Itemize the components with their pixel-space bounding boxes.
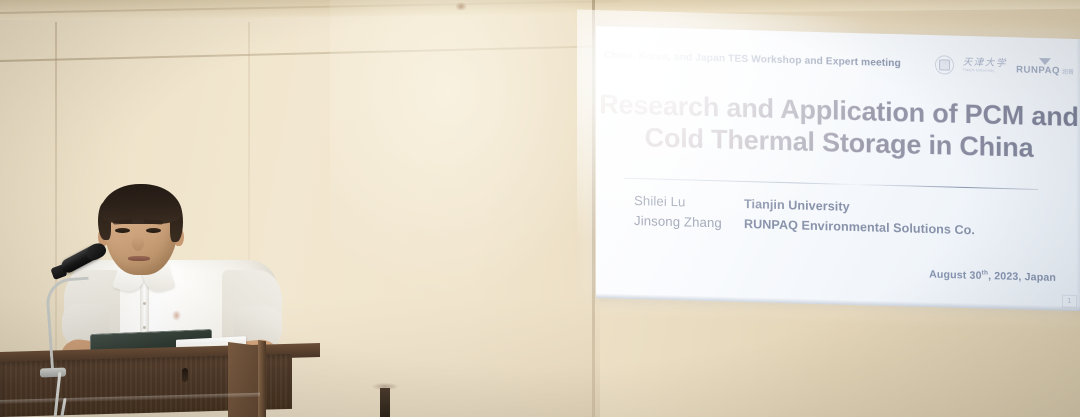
runpaq-name-label: RUNPAQ bbox=[1016, 66, 1060, 77]
author-name: Shilei Lu bbox=[634, 193, 744, 211]
presenter-hair bbox=[100, 184, 182, 224]
presentation-slide: China, Korea, and Japan TES Workshop and… bbox=[596, 26, 1080, 311]
date-suffix: , 2023, Japan bbox=[988, 271, 1056, 285]
shirt-button bbox=[143, 326, 146, 329]
microphone-base bbox=[40, 368, 66, 378]
author-list: Shilei Lu Tianjin University Jinsong Zha… bbox=[634, 193, 975, 242]
workshop-name-label: China, Korea, and Japan TES Workshop and… bbox=[604, 50, 901, 69]
slide-divider-rule bbox=[624, 178, 1038, 190]
projection-screen: China, Korea, and Japan TES Workshop and… bbox=[596, 26, 1080, 311]
tianjin-university-seal-icon bbox=[935, 55, 954, 75]
author-affiliation: Tianjin University bbox=[744, 197, 850, 214]
slide-logos: 天津大学 Tianjin University RUNPAQ 润普 bbox=[935, 55, 1074, 78]
tianjin-cn-label: 天津大学 bbox=[963, 58, 1007, 69]
shirt-pocket-logo bbox=[172, 310, 181, 321]
wall-light-sheen bbox=[330, 0, 620, 300]
presenter-eye-left bbox=[115, 228, 130, 233]
tianjin-en-label: Tianjin University bbox=[963, 69, 1007, 74]
podium-side-edge bbox=[258, 340, 266, 417]
presenter-mouth bbox=[128, 256, 150, 261]
slide-title: Research and Application of PCM and Cold… bbox=[596, 88, 1080, 166]
presenter-nose bbox=[132, 236, 144, 251]
presentation-photo-scene: China, Korea, and Japan TES Workshop and… bbox=[0, 0, 1080, 417]
slide-header: China, Korea, and Japan TES Workshop and… bbox=[604, 43, 1074, 80]
slide-date-location: August 30th, 2023, Japan bbox=[929, 268, 1056, 284]
author-name: Jinsong Zhang bbox=[634, 213, 744, 231]
presenter-eye-right bbox=[146, 228, 161, 233]
runpaq-wordmark: RUNPAQ 润普 bbox=[1016, 66, 1074, 77]
podium-latch bbox=[182, 368, 188, 382]
author-affiliation: RUNPAQ Environmental Solutions Co. bbox=[744, 217, 975, 237]
ceiling-smudge bbox=[455, 2, 467, 11]
tripod-leg bbox=[380, 388, 390, 417]
runpaq-cn-label: 润普 bbox=[1062, 70, 1074, 76]
tianjin-university-wordmark: 天津大学 Tianjin University bbox=[963, 58, 1007, 74]
runpaq-logo: RUNPAQ 润普 bbox=[1016, 58, 1074, 77]
microphone-gooseneck bbox=[45, 277, 96, 376]
screen-edge-right bbox=[1076, 39, 1080, 311]
seal-inner-shape bbox=[939, 59, 950, 70]
shirt-button bbox=[143, 302, 146, 305]
author-row: Jinsong Zhang RUNPAQ Environmental Solut… bbox=[634, 213, 975, 237]
date-prefix: August 30 bbox=[929, 269, 982, 282]
